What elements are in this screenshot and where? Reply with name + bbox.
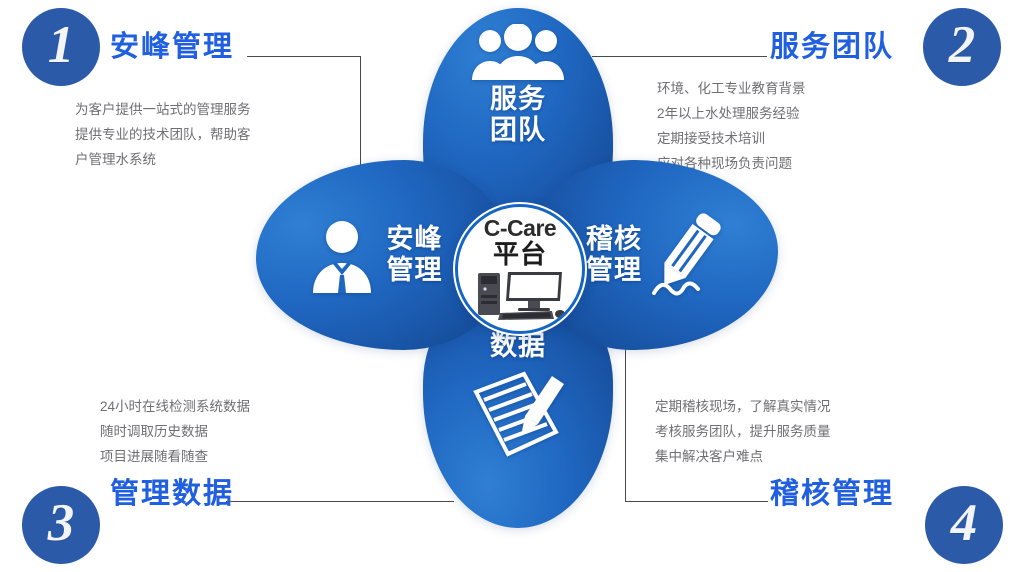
section-heading-3: 管理数据 — [110, 470, 234, 512]
businessman-icon — [307, 217, 377, 293]
number-badge-2: 2 — [923, 8, 1001, 86]
body-line: 随时调取历史数据 — [100, 419, 250, 444]
clipboard-pen-icon — [466, 366, 570, 462]
section-heading-4: 稽核管理 — [770, 470, 894, 512]
center-hub-ccare-platform[interactable]: C-Care 平台 — [455, 204, 585, 334]
number-badge-4-label: 4 — [951, 497, 978, 550]
petal-label-service-team: 服务 团队 — [490, 84, 546, 146]
petal-label-anfeng-management: 安峰 管理 — [387, 224, 443, 286]
infographic-canvas: 1 2 3 4 安峰管理 服务团队 管理数据 稽核管理 为客户提供一站式的管理服… — [0, 0, 1010, 572]
number-badge-2-label: 2 — [949, 19, 976, 72]
desktop-computer-icon — [474, 269, 566, 321]
pencil-signature-icon — [646, 207, 732, 303]
number-badge-3: 3 — [22, 486, 100, 564]
people-group-icon — [470, 24, 566, 80]
hub-english-label: C-Care — [484, 217, 556, 240]
petal-label-audit-management: 稽核 管理 — [586, 224, 642, 286]
body-line: 户管理水系统 — [75, 147, 251, 172]
section-heading-1: 安峰管理 — [110, 23, 234, 65]
body-line: 24小时在线检测系统数据 — [100, 394, 250, 419]
section-heading-2: 服务团队 — [770, 23, 894, 65]
number-badge-3-label: 3 — [48, 497, 75, 550]
section-body-1: 为客户提供一站式的管理服务 提供专业的技术团队，帮助客 户管理水系统 — [75, 97, 251, 172]
number-badge-4: 4 — [925, 486, 1003, 564]
body-line: 提供专业的技术团队，帮助客 — [75, 122, 251, 147]
number-badge-1-label: 1 — [48, 19, 75, 72]
number-badge-1: 1 — [22, 8, 100, 86]
body-line: 为客户提供一站式的管理服务 — [75, 97, 251, 122]
body-line: 项目进展随看随查 — [100, 444, 250, 469]
flower-diagram: 服务 团队 管理 数据 — [256, 8, 778, 528]
hub-chinese-label: 平台 — [493, 241, 547, 268]
section-body-3: 24小时在线检测系统数据 随时调取历史数据 项目进展随看随查 — [100, 394, 250, 469]
